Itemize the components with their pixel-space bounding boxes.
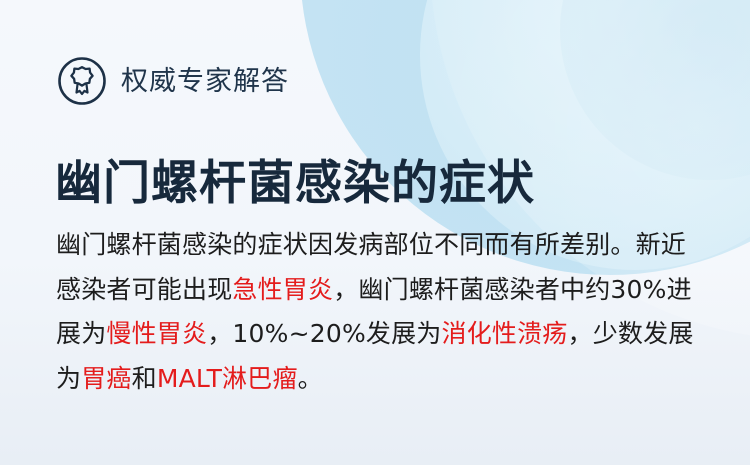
body-text: 为: [56, 364, 81, 393]
award-badge-icon: [57, 56, 107, 106]
page-title: 幽门螺杆菌感染的症状: [55, 155, 535, 214]
body-text: 和: [132, 364, 157, 393]
infographic-card: 权威专家解答 幽门螺杆菌感染的症状 幽门螺杆菌感染的症状因发病部位不同而有所差别…: [0, 0, 750, 465]
body-text: ，幽门螺杆菌感染者中约30%进: [333, 275, 692, 304]
body-paragraph: 幽门螺杆菌感染的症状因发病部位不同而有所差别。新近感染者可能出现急性胃炎，幽门螺…: [56, 223, 704, 401]
highlighted-term: 消化性溃疡: [442, 319, 568, 348]
body-text: 感染者可能出现: [56, 275, 232, 304]
highlighted-term: 急性胃炎: [232, 275, 333, 304]
body-line: 展为慢性胃炎，10%~20%发展为消化性溃疡，少数发展: [56, 312, 704, 357]
body-line: 感染者可能出现急性胃炎，幽门螺杆菌感染者中约30%进: [56, 268, 704, 313]
body-line: 为胃癌和MALT淋巴瘤。: [56, 357, 704, 402]
body-line: 幽门螺杆菌感染的症状因发病部位不同而有所差别。新近: [56, 223, 704, 268]
body-text: 。: [298, 364, 323, 393]
highlighted-term: 慢性胃炎: [106, 319, 207, 348]
eyebrow-row: 权威专家解答: [57, 56, 289, 106]
highlighted-term: MALT淋巴瘤: [157, 364, 298, 393]
body-text: ，10%~20%发展为: [207, 319, 441, 348]
background-circle-small: [560, 0, 750, 180]
body-text: ，少数发展: [568, 319, 694, 348]
highlighted-term: 胃癌: [81, 364, 131, 393]
body-text: 展为: [56, 319, 106, 348]
eyebrow-label: 权威专家解答: [121, 68, 289, 95]
body-text: 幽门螺杆菌感染的症状因发病部位不同而有所差别。新近: [56, 230, 686, 259]
